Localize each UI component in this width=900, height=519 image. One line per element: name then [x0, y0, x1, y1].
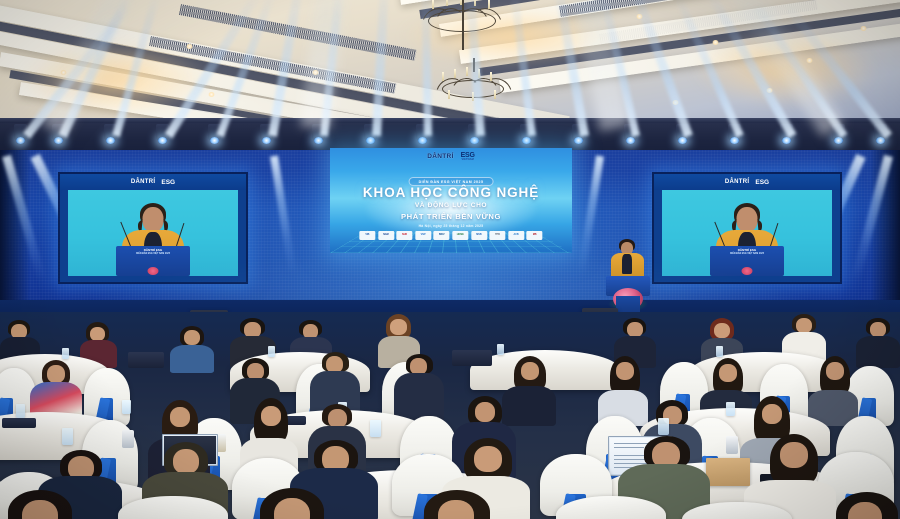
moving-head-light — [728, 124, 741, 141]
audience-person — [404, 490, 516, 519]
water-glass — [716, 346, 723, 357]
moving-head-light — [780, 124, 793, 141]
water-glass — [62, 428, 73, 445]
moving-head-light — [260, 124, 273, 141]
podium-plate: DÂNTRÍ ESG DIỄN ĐÀN ESG VIỆT NAM 2025 — [718, 249, 776, 256]
sponsor-logo: MSB — [471, 231, 487, 240]
downlight-icon — [186, 44, 193, 49]
conference-photo-scene: DÂNTRÍ ESG VIETNAM DIỄN ĐÀN ESG VIỆT NAM… — [0, 0, 900, 519]
sponsor-logo: NAM — [378, 231, 394, 240]
tumbler — [726, 436, 738, 454]
sponsor-logo: MB — [527, 231, 543, 240]
downlight-icon — [712, 40, 719, 45]
ceiling-warm-glow-left — [20, 40, 210, 118]
audience-person — [856, 318, 900, 366]
podium: DÂNTRÍ ESG DIỄN ĐÀN ESG VIỆT NAM 2025 — [710, 246, 784, 276]
water-glass — [268, 346, 275, 357]
moving-head-light — [624, 124, 637, 141]
water-glass — [122, 400, 131, 414]
water-glass — [658, 418, 669, 435]
event-subtitle-2: PHÁT TRIỂN BỀN VỮNG — [330, 212, 572, 221]
sponsor-logo: BIDV — [434, 231, 450, 240]
side-screen-header: DÂNTRÍ ESG — [60, 174, 246, 190]
podium: DÂNTRÍ ESG DIỄN ĐÀN ESG VIỆT NAM 2025 — [116, 246, 190, 276]
sponsor-logo: VNP — [415, 231, 431, 240]
table-monitor — [128, 352, 164, 368]
downlight-icon — [806, 58, 813, 63]
audience-person — [820, 492, 900, 519]
side-screen-header: DÂNTRÍ ESG — [654, 174, 840, 190]
chandelier-upper — [412, 0, 512, 66]
dantri-logo: DÂNTRÍ — [725, 179, 749, 185]
table-tablet — [2, 418, 36, 428]
audience-person — [394, 354, 444, 420]
water-glass — [62, 348, 69, 359]
moving-head-light — [468, 124, 481, 141]
sponsor-logo: TPB — [489, 231, 505, 240]
audience-person — [0, 490, 100, 519]
live-video-feed: DÂNTRÍ ESG DIỄN ĐÀN ESG VIỆT NAM 2025 — [68, 190, 238, 276]
sponsor-logo: VIB — [359, 231, 375, 240]
audience-person — [170, 326, 214, 370]
moving-head-light — [416, 124, 429, 141]
water-glass — [726, 402, 735, 416]
downlight-icon — [860, 26, 867, 31]
audience-person — [240, 488, 350, 519]
moving-head-light — [364, 124, 377, 141]
sponsor-logo: SHB — [397, 231, 413, 240]
moving-head-light — [572, 124, 585, 141]
sponsor-logo: HOME — [452, 231, 468, 240]
podium-flower — [742, 267, 753, 275]
esg-logo: ESG — [755, 179, 769, 186]
moving-head-light — [874, 124, 887, 141]
dantri-logo: DÂNTRÍ — [131, 179, 155, 185]
event-title: KHOA HỌC CÔNG NGHỆ — [330, 186, 572, 200]
moving-head-light — [104, 124, 117, 141]
live-video-feed: DÂNTRÍ ESG DIỄN ĐÀN ESG VIỆT NAM 2025 — [662, 190, 832, 276]
downlight-icon — [766, 88, 773, 93]
moving-head-light — [676, 124, 689, 141]
esg-logo: ESG VIETNAM — [461, 152, 475, 162]
event-date: Hà Nội, ngày 25 tháng 12 năm 2025 — [330, 224, 572, 228]
dantri-logo: DÂNTRÍ — [427, 153, 453, 160]
downlight-icon — [636, 14, 643, 19]
moving-head-light — [208, 124, 221, 141]
moving-head-light — [156, 124, 169, 141]
sponsor-logo-row: VIB NAM SHB VNP BIDV HOME MSB TPB ACB MB — [359, 231, 542, 240]
podium-flower — [148, 267, 159, 275]
water-glass — [16, 404, 25, 418]
esg-logo-sub: VIETNAM — [461, 159, 473, 162]
audience-area — [0, 312, 900, 519]
moving-head-light — [520, 124, 533, 141]
downlight-icon — [208, 92, 215, 97]
tumbler — [122, 430, 134, 448]
podium-plate: DÂNTRÍ ESG DIỄN ĐÀN ESG VIỆT NAM 2025 — [124, 249, 182, 256]
main-screen-logos: DÂNTRÍ ESG VIETNAM — [330, 152, 572, 162]
right-side-screen: DÂNTRÍ ESG DÂNTRÍ ESG DIỄN ĐÀN ESG VIỆT … — [652, 172, 842, 284]
event-subtitle-1: VÀ ĐỘNG LỰC CHO — [330, 202, 572, 209]
left-side-screen: DÂNTRÍ ESG DÂNTRÍ ESG DIỄN ĐÀN ESG VIỆT … — [58, 172, 248, 284]
sponsor-logo: ACB — [508, 231, 524, 240]
esg-logo: ESG — [161, 179, 175, 186]
main-led-screen: DÂNTRÍ ESG VIETNAM DIỄN ĐÀN ESG VIỆT NAM… — [330, 148, 572, 253]
water-glass — [370, 420, 381, 437]
moving-head-light — [14, 124, 27, 141]
downlight-icon — [672, 100, 679, 105]
water-glass — [497, 344, 504, 355]
table-monitor — [452, 350, 492, 366]
audience-person — [806, 356, 860, 424]
